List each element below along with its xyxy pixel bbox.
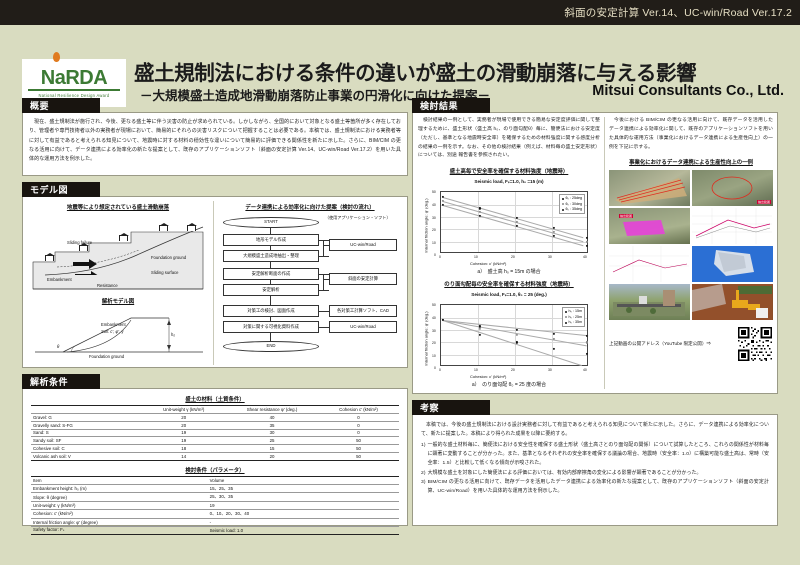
legend-item: h₀ : 35m bbox=[565, 320, 582, 325]
chart-2-xlabel: Cohesion: c' (kN/m²) bbox=[470, 374, 506, 379]
label-resistance: Resistance bbox=[97, 283, 118, 288]
flowchart-app-header: （使用アプリケーション・ソフト） bbox=[325, 215, 390, 221]
soil-table-header-row: Unit-weight γ (kN/m³) Shear resistance φ… bbox=[31, 406, 399, 414]
discussion-body: 本稿では、今後の盛土規制法における設計実務者に対して有益であると考えられる知見に… bbox=[412, 414, 778, 526]
section-lines-icon bbox=[692, 208, 773, 244]
chart-1-xtick: 30 bbox=[548, 255, 552, 259]
thumbnail-profile-drawing bbox=[609, 246, 690, 282]
thumbnail-extracted-area: 抽出範囲 bbox=[609, 208, 690, 244]
legend-marker-icon bbox=[562, 203, 564, 205]
soil-th-unitweight: Unit-weight γ (kN/m³) bbox=[141, 406, 226, 414]
soil-th-shear: Shear resistance φ' (deg.) bbox=[226, 406, 318, 414]
table-row: Sand: S19300 bbox=[31, 429, 399, 437]
chart-2-xtick: 40 bbox=[583, 368, 587, 372]
label-embankment-2: Embankment bbox=[101, 322, 126, 327]
overview-body: 現在、盛土規制法が施行され、今後、更なる盛土等に伴う災害の防止が求められている。… bbox=[22, 112, 408, 176]
results-tab: 検討結果 bbox=[412, 98, 490, 113]
company-name: Mitsui Consultants Co., Ltd. bbox=[592, 83, 784, 99]
legend-marker-icon bbox=[565, 316, 567, 318]
discussion-tab: 考察 bbox=[412, 400, 490, 415]
label-embankment: Embankment bbox=[47, 277, 72, 282]
chart-2-xtick: 20 bbox=[511, 368, 515, 372]
logo-divider bbox=[28, 89, 120, 91]
list-item: 3)BIM/CIM の更なる活用に向けて、既存データを活用したデータ連携による効… bbox=[421, 478, 769, 496]
figure2-caption: a） のり面勾配 θ₀ = 25 度の場合 bbox=[418, 381, 600, 388]
chart-2: Seismic load, Fₛ=1.0, θ₀ = 25 (deg.) Int… bbox=[418, 292, 600, 388]
chart-2-xtick: 30 bbox=[548, 368, 552, 372]
discussion-list: 1)一般的な盛土材料毎に、簡便法における安全性を確保する盛土形状（盛土高さとのり… bbox=[421, 441, 769, 496]
application-paragraph: 今後における BIM/CIM の更なる活用に向けて、既存データを活用したデータ連… bbox=[609, 117, 773, 152]
model-panel: モデル図 地震等により想定されている盛土滑動崩落 bbox=[22, 182, 408, 368]
table-row: Gravel: G20400 bbox=[31, 414, 399, 422]
slide-failure-diagram: Sliding failure Foundation ground Slidin… bbox=[27, 215, 209, 293]
model-body: 地震等により想定されている盛土滑動崩落 bbox=[22, 196, 408, 368]
label-sliding-failure: Sliding failure bbox=[67, 240, 92, 245]
soil-th-name bbox=[31, 406, 141, 414]
chart-2-plot: h₀ : 15m h₀ : 25m h₀ : 35m bbox=[440, 304, 588, 366]
flow-node-end: END bbox=[223, 341, 319, 352]
qr-code-icon bbox=[738, 327, 772, 361]
table-row: Sandy soil: SF192550 bbox=[31, 437, 399, 445]
chart-2-ytick: 30 bbox=[432, 329, 436, 333]
overview-paragraph: 現在、盛土規制法が施行され、今後、更なる盛土等に伴う災害の防止が求められている。… bbox=[29, 118, 401, 164]
chart-1-xtick: 20 bbox=[511, 255, 515, 259]
flow-node-visualization: 対策に関する可視化資料作成 bbox=[223, 321, 319, 333]
table-row: Gravelly sand: S-FG20350 bbox=[31, 421, 399, 429]
soil-table: Unit-weight γ (kN/m³) Shear resistance φ… bbox=[31, 405, 399, 461]
load-arrows-icon bbox=[73, 259, 107, 275]
application-figure-title: 事業化におけるデータ連携による生産性向上の一例 bbox=[609, 158, 773, 166]
version-label: 斜面の安定計算 Ver.14、UC-win/Road Ver.17.2 bbox=[564, 5, 792, 20]
param-th-volume: Volume bbox=[208, 476, 399, 484]
conditions-panel: 解析条件 盛土の材料（土質条件） Unit-weight γ (kN/m³) S… bbox=[22, 374, 408, 526]
list-item: 1)一般的な盛土材料毎に、簡便法における安全性を確保する盛土形状（盛土高さとのり… bbox=[421, 441, 769, 468]
param-table-header-row: Item Volume bbox=[31, 476, 399, 484]
discussion-panel: 考察 本稿では、今後の盛土規制法における設計実務者に対して有益であると考えられる… bbox=[412, 400, 778, 526]
chart-1-ytick: 30 bbox=[432, 216, 436, 220]
discussion-intro: 本稿では、今後の盛土規制法における設計実務者に対して有益であると考えられる知見に… bbox=[421, 421, 769, 439]
flowchart: データ連携による効率化に向けた提案（検討の流れ） START 地形モデル作成 大… bbox=[217, 201, 403, 365]
label-soil-params: Soil: c', φ', γ bbox=[101, 329, 123, 334]
chart-1-xtick: 10 bbox=[474, 255, 478, 259]
video-address-label: 上記動画の公開アドレス（YouTube 限定公開）⇒ bbox=[609, 341, 734, 347]
chart-2-ytick: 10 bbox=[432, 354, 436, 358]
chart-2-ytick: 40 bbox=[432, 316, 436, 320]
flow-app-ucwin-road-2: UC-win/Road bbox=[329, 321, 397, 333]
townscape-icon bbox=[609, 284, 690, 320]
flow-app-cad: 各対策工計算ソフト、CAD bbox=[329, 305, 397, 317]
results-divider bbox=[604, 117, 605, 389]
logo-wordmark: NaRDA bbox=[41, 68, 107, 88]
chart-2-ylabel: Internal friction angle: φ' (deg.) bbox=[424, 307, 429, 371]
chart-1-ytick: 50 bbox=[432, 190, 436, 194]
chart-2-xtick: 10 bbox=[474, 368, 478, 372]
thumbnail-pointcloud bbox=[692, 246, 773, 282]
chart-1-xlabel: Cohesion: c' (kN/m²) bbox=[470, 261, 506, 266]
table-row: Safety factor: FₛSeismic load: 1.0 bbox=[31, 526, 399, 535]
thumbnail-townscape bbox=[609, 284, 690, 320]
application-image-grid: 抽出範囲 抽出範囲 bbox=[609, 170, 773, 320]
overview-panel: 概要 現在、盛土規制法が施行され、今後、更なる盛土等に伴う災害の防止が求められて… bbox=[22, 98, 408, 176]
chart-2-ytick: 50 bbox=[432, 303, 436, 307]
label-sliding-surface: Sliding surface bbox=[151, 270, 178, 275]
table-row: Unit-weight: γ (kN/m³)19 bbox=[31, 502, 399, 510]
chart-1-xtick: 40 bbox=[583, 255, 587, 259]
chart-2-ytick: 0 bbox=[434, 366, 436, 370]
chart-2-legend: h₀ : 15m h₀ : 25m h₀ : 35m bbox=[562, 307, 585, 327]
thumbnail-construction-sim bbox=[692, 284, 773, 320]
thumbnail-aerial-site: 抽出範囲 bbox=[692, 170, 773, 206]
table-row: Slope: θ (degree)25、30、35 bbox=[31, 493, 399, 502]
pointcloud-icon bbox=[692, 246, 773, 282]
flow-node-create-section: 安定解析断面の作成 bbox=[223, 268, 319, 280]
label-foundation-ground: Foundation ground bbox=[151, 255, 186, 260]
thumbnail-tag: 抽出範囲 bbox=[619, 214, 633, 218]
chart-1-ytick: 40 bbox=[432, 203, 436, 207]
model-divider bbox=[213, 201, 214, 365]
chart-1-ytick: 20 bbox=[432, 228, 436, 232]
flow-node-start: START bbox=[223, 217, 319, 228]
results-body: 検討結果の一例として、実務者が現場で使用できる簡易な安定度評価に関して整理するた… bbox=[412, 112, 778, 394]
chart-1-title: Seismic load, Fₛ=1.0, h₀ =15 (m) bbox=[418, 179, 600, 185]
model-figure-caption-bottom: 解析モデル図 bbox=[27, 297, 209, 305]
legend-marker-icon bbox=[565, 311, 567, 313]
model-figure-caption-top: 地震等により想定されている盛土滑動崩落 bbox=[27, 203, 209, 211]
table-row: Embankment height: h₀ (m)15、25、35 bbox=[31, 484, 399, 493]
conditions-body: 盛土の材料（土質条件） Unit-weight γ (kN/m³) Shear … bbox=[22, 388, 408, 526]
flame-icon bbox=[53, 52, 60, 62]
label-height: h₀ bbox=[171, 332, 175, 337]
list-item: 2)大規模な盛土を対象にした簡便法による評価においては、有効内部摩擦角の変化によ… bbox=[421, 469, 769, 478]
table-row: Internal friction angle: φ' (degree)- bbox=[31, 518, 399, 526]
analysis-model-diagram: Embankment Soil: c', φ', γ Foundation gr… bbox=[27, 308, 209, 362]
chart-1-plot: θ₀ : 25deg θ₀ : 30deg θ₀ : 35deg bbox=[440, 191, 588, 253]
results-left-column: 検討結果の一例として、実務者が現場で使用できる簡易な安定度評価に関して整理するた… bbox=[418, 117, 600, 389]
figure1-title: 盛土高毎で安全率を確保する材料強度（地震時） bbox=[418, 167, 600, 175]
page-title: 盛土規制法における条件の違いが盛土の滑動崩落に与える影響 bbox=[134, 56, 694, 86]
model-figure: 地震等により想定されている盛土滑動崩落 bbox=[27, 201, 209, 365]
soil-table-title: 盛土の材料（土質条件） bbox=[31, 395, 399, 403]
thumbnail-terrain-model bbox=[609, 170, 690, 206]
flow-node-terrain-model: 地形モデル作成 bbox=[223, 234, 319, 246]
flow-node-extract-sites: 大規模盛土造成地抽出・整理 bbox=[223, 250, 319, 262]
table-row: Cohesive soil: C181550 bbox=[31, 445, 399, 453]
qr-code[interactable] bbox=[737, 326, 773, 362]
legend-marker-icon bbox=[565, 322, 567, 324]
top-bar: 斜面の安定計算 Ver.14、UC-win/Road Ver.17.2 bbox=[0, 0, 800, 25]
param-th-item: Item bbox=[31, 476, 208, 484]
thumbnail-tag: 抽出範囲 bbox=[757, 200, 771, 204]
chart-1: Seismic load, Fₛ=1.0, h₀ =15 (m) Interna… bbox=[418, 179, 600, 275]
title-band: NaRDA National Resilience Design Award 盛… bbox=[0, 25, 800, 98]
flow-app-ucwin-road-1: UC-win/Road bbox=[329, 239, 397, 251]
results-paragraph: 検討結果の一例として、実務者が現場で使用できる簡易な安定度評価に関して整理するた… bbox=[418, 117, 600, 161]
chart-2-ytick: 20 bbox=[432, 341, 436, 345]
conditions-tab: 解析条件 bbox=[22, 374, 100, 389]
chart-1-xtick: 0 bbox=[439, 255, 441, 259]
figure2-title: のり面勾配毎の安全率を確保する材料強度（地震時） bbox=[418, 280, 600, 288]
legend-item: θ₀ : 35deg bbox=[562, 207, 582, 212]
results-panel: 検討結果 検討結果の一例として、実務者が現場で使用できる簡易な安定度評価に関して… bbox=[412, 98, 778, 394]
flow-node-countermeasure: 対策工の検討、図面作成 bbox=[223, 305, 319, 317]
poster-root: 斜面の安定計算 Ver.14、UC-win/Road Ver.17.2 NaRD… bbox=[0, 0, 800, 565]
figure1-caption: a） 盛土高 h₀ = 15m の場合 bbox=[418, 268, 600, 275]
flow-app-slope-stability: 斜面の安定計算 bbox=[329, 273, 397, 285]
soil-th-cohesion: Cohesion c' (kN/m²) bbox=[318, 406, 399, 414]
overview-tab: 概要 bbox=[22, 98, 100, 113]
legend-marker-icon bbox=[562, 198, 564, 200]
thumbnail-section-drawing bbox=[692, 208, 773, 244]
param-table: Item Volume Embankment height: h₀ (m)15、… bbox=[31, 476, 399, 536]
legend-marker-icon bbox=[562, 209, 564, 211]
label-theta: θ bbox=[57, 344, 59, 349]
chart-2-xtick: 0 bbox=[439, 368, 441, 372]
chart-1-legend: θ₀ : 25deg θ₀ : 30deg θ₀ : 35deg bbox=[559, 194, 585, 214]
excavator-icon bbox=[692, 284, 773, 320]
chart-1-ylabel: Internal friction angle: φ' (deg.) bbox=[424, 194, 429, 258]
terrain-overlay-icon bbox=[609, 170, 690, 206]
flowchart-title: データ連携による効率化に向けた提案（検討の流れ） bbox=[217, 203, 403, 211]
flow-node-stability-analysis: 安定解析 bbox=[223, 284, 319, 296]
table-row: Cohesion: c' (kN/m²)0、10、20、30、40 bbox=[31, 510, 399, 519]
chart-2-title: Seismic load, Fₛ=1.0, θ₀ = 25 (deg.) bbox=[418, 292, 600, 298]
video-link-row: 上記動画の公開アドレス（YouTube 限定公開）⇒ bbox=[609, 326, 773, 362]
label-foundation-ground-2: Foundation ground bbox=[89, 354, 124, 359]
param-table-title: 検討条件（パラメータ） bbox=[31, 466, 399, 474]
chart-1-ytick: 10 bbox=[432, 241, 436, 245]
results-right-column: 今後における BIM/CIM の更なる活用に向けて、既存データを活用したデータ連… bbox=[609, 117, 773, 389]
table-row: Volcanic ash soil: V142050 bbox=[31, 452, 399, 460]
profile-lines-icon bbox=[609, 246, 690, 282]
model-tab: モデル図 bbox=[22, 182, 100, 197]
chart-1-ytick: 0 bbox=[434, 253, 436, 257]
